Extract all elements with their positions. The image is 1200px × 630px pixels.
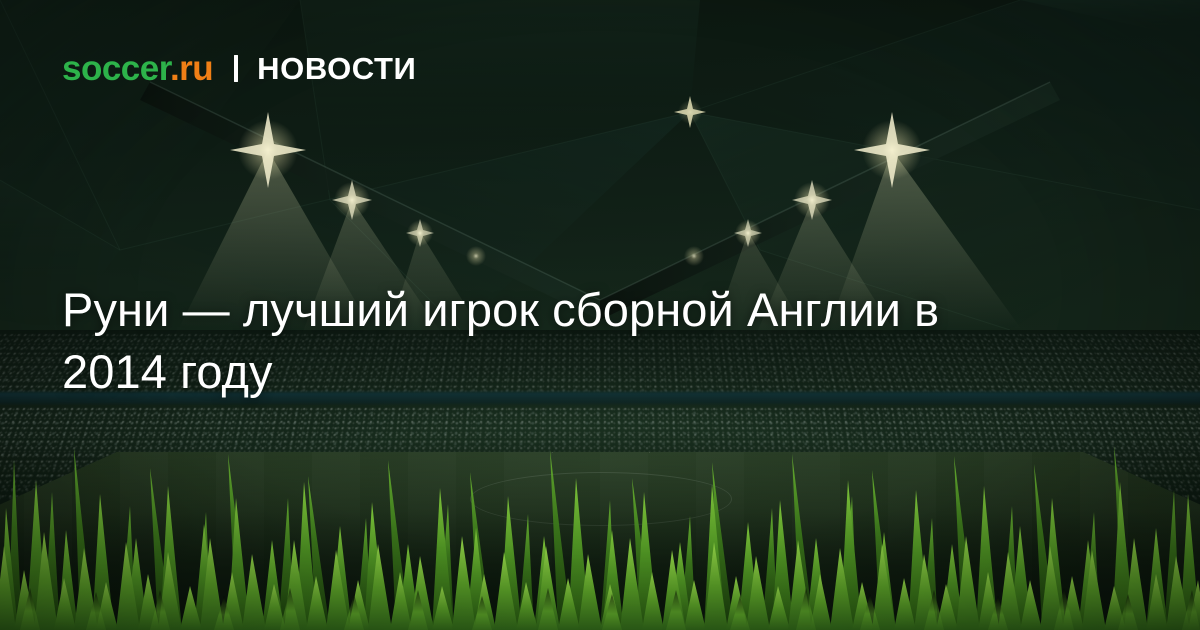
logo-text-soccer: soccer — [62, 49, 170, 88]
brand-header[interactable]: soccer.ru НОВОСТИ — [62, 46, 416, 90]
section-label-novosti: НОВОСТИ — [257, 53, 416, 84]
floodlight-left-1 — [230, 112, 306, 188]
page-title: Руни — лучший игрок сборной Англии в 201… — [62, 279, 962, 401]
foreground-grass — [0, 420, 1200, 630]
soccer-ru-logo[interactable]: soccer.ru — [62, 51, 213, 86]
brand-divider — [234, 55, 238, 82]
floodlight-left-4 — [466, 246, 486, 266]
star-sparkle-icon — [674, 96, 706, 128]
logo-text-ru: .ru — [170, 49, 213, 88]
grass-blades — [0, 420, 1200, 630]
news-share-card: soccer.ru НОВОСТИ Руни — лучший игрок сб… — [0, 0, 1200, 630]
floodlight-right-4 — [684, 246, 704, 266]
